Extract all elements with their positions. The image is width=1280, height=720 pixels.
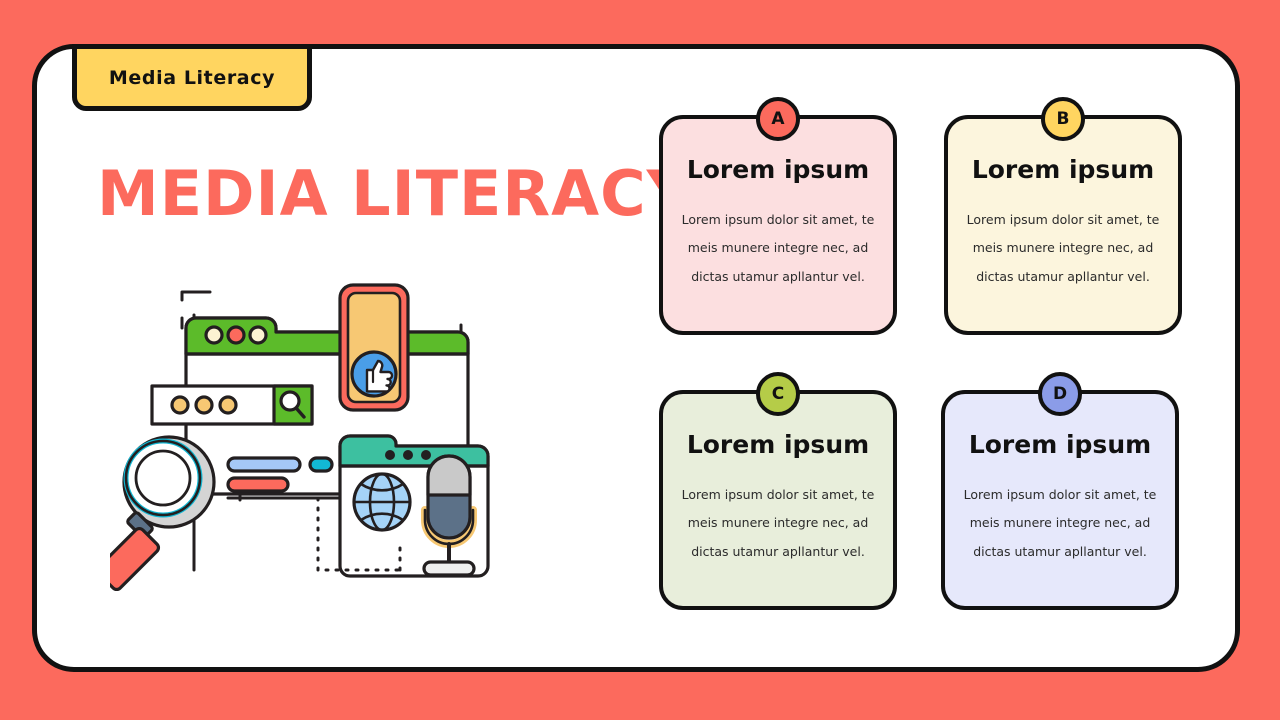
card-badge-c: C bbox=[756, 372, 800, 416]
section-tab-label: Media Literacy bbox=[109, 67, 275, 89]
card-title-c: Lorem ipsum bbox=[687, 430, 869, 459]
info-card-a[interactable]: A Lorem ipsum Lorem ipsum dolor sit amet… bbox=[659, 115, 897, 335]
card-body-b: Lorem ipsum dolor sit amet, te meis mune… bbox=[964, 206, 1162, 290]
card-badge-b: B bbox=[1041, 97, 1085, 141]
section-tab[interactable]: Media Literacy bbox=[72, 44, 312, 111]
card-body-a: Lorem ipsum dolor sit amet, te meis mune… bbox=[679, 206, 877, 290]
progress-bar-coral bbox=[228, 478, 288, 491]
info-card-c[interactable]: C Lorem ipsum Lorem ipsum dolor sit amet… bbox=[659, 390, 897, 610]
progress-pill-teal bbox=[310, 458, 332, 471]
card-badge-d: D bbox=[1038, 372, 1082, 416]
card-title-b: Lorem ipsum bbox=[972, 155, 1154, 184]
page-title: MEDIA LITERACY bbox=[97, 163, 693, 225]
card-body-d: Lorem ipsum dolor sit amet, te meis mune… bbox=[961, 481, 1159, 565]
card-badge-a: A bbox=[756, 97, 800, 141]
media-literacy-illustration bbox=[110, 270, 510, 600]
corner-bracket-icon bbox=[182, 292, 210, 300]
progress-bar-blue bbox=[228, 458, 300, 471]
info-card-b[interactable]: B Lorem ipsum Lorem ipsum dolor sit amet… bbox=[944, 115, 1182, 335]
card-title-d: Lorem ipsum bbox=[969, 430, 1151, 459]
slide-canvas: Media Literacy MEDIA LITERACY bbox=[0, 0, 1280, 720]
info-card-d[interactable]: D Lorem ipsum Lorem ipsum dolor sit amet… bbox=[941, 390, 1179, 610]
card-body-c: Lorem ipsum dolor sit amet, te meis mune… bbox=[679, 481, 877, 565]
card-title-a: Lorem ipsum bbox=[687, 155, 869, 184]
